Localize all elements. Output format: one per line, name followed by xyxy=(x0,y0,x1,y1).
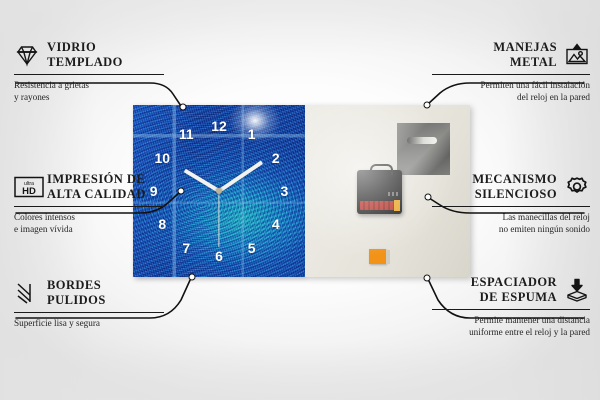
feature-desc-line2: no emiten ningún sonido xyxy=(432,223,590,235)
mechanism-label xyxy=(388,192,398,196)
feature-mecanismo-silencioso: MECANISMO SILENCIOSO Las manecillas del … xyxy=(432,172,590,236)
feature-title-line1: IMPRESIÓN DE xyxy=(47,172,146,187)
feature-title-line1: BORDES xyxy=(47,278,106,293)
feature-title-line2: ALTA CALIDAD xyxy=(47,187,146,202)
polished-edges-icon xyxy=(14,281,40,305)
clock-mechanism xyxy=(357,170,402,214)
clock-numeral-11: 11 xyxy=(179,127,194,141)
gear-icon xyxy=(564,175,590,199)
feature-rule xyxy=(14,74,164,76)
svg-text:HD: HD xyxy=(22,186,36,197)
feature-desc-line1: Permite mantener una distancia xyxy=(432,314,590,326)
feature-title-line2: SILENCIOSO xyxy=(472,187,557,202)
feature-rule xyxy=(14,312,164,314)
feature-bordes-pulidos: BORDES PULIDOS Superficie lisa y segura xyxy=(14,278,164,329)
feature-desc-line2: uniforme entre el reloj y la pared xyxy=(432,326,590,338)
feature-title-line2: PULIDOS xyxy=(47,293,106,308)
feature-title-line2: METAL xyxy=(493,55,557,70)
foam-spacer-arrow-icon xyxy=(564,278,590,302)
feature-desc-line2: y rayones xyxy=(14,91,164,103)
feature-impresion-alta-calidad: ultra HD IMPRESIÓN DE ALTA CALIDAD Color… xyxy=(14,172,164,236)
feature-desc-line1: Resistencia a grietas xyxy=(14,79,164,91)
mechanism-hanging-loop xyxy=(370,164,393,175)
clock-numeral-10: 10 xyxy=(154,151,170,165)
wall-hanging-frame-icon xyxy=(564,43,590,67)
feature-title-line2: DE ESPUMA xyxy=(471,290,557,305)
feature-title-line1: VIDRIO xyxy=(47,40,123,55)
feature-desc-line1: Colores intensos xyxy=(14,211,164,223)
clock-numeral-3: 3 xyxy=(280,184,288,198)
foam-spacer xyxy=(369,249,386,264)
clock-numeral-4: 4 xyxy=(272,217,280,231)
clock-numeral-1: 1 xyxy=(248,127,256,141)
connector-dot-bordes-pulidos xyxy=(189,274,196,281)
feature-manejas-metal: MANEJAS METAL Permiten una fácil instala… xyxy=(432,40,590,104)
clock-numeral-7: 7 xyxy=(182,241,190,255)
connector-dot-impresion xyxy=(178,188,185,195)
clock-numeral-5: 5 xyxy=(248,241,256,255)
ultra-hd-icon: ultra HD xyxy=(14,175,40,199)
connector-dot-espaciador xyxy=(424,275,431,282)
connector-dot-mecanismo xyxy=(425,194,432,201)
connector-dot-manejas-metal xyxy=(424,102,431,109)
feature-rule xyxy=(432,309,590,311)
feature-desc-line2: e imagen vívida xyxy=(14,223,164,235)
infographic-canvas: 12 1 2 3 4 5 6 7 8 9 10 11 xyxy=(0,0,600,400)
feature-rule xyxy=(432,74,590,76)
feature-desc-line2: del reloj en la pared xyxy=(432,91,590,103)
feature-rule xyxy=(14,206,164,208)
metal-hanger-plate xyxy=(397,123,450,175)
feature-desc-line1: Superficie lisa y segura xyxy=(14,317,164,329)
feature-rule xyxy=(432,206,590,208)
feature-title-line1: MANEJAS xyxy=(493,40,557,55)
battery xyxy=(360,201,396,210)
feature-title-line2: TEMPLADO xyxy=(47,55,123,70)
feature-espaciador-de-espuma: ESPACIADOR DE ESPUMA Permite mantener un… xyxy=(432,275,590,339)
feature-title-line1: MECANISMO xyxy=(472,172,557,187)
clock-numeral-6: 6 xyxy=(215,249,223,263)
diamond-icon xyxy=(14,43,40,67)
clock-numeral-12: 12 xyxy=(211,119,227,133)
feature-desc-line1: Las manecillas del reloj xyxy=(432,211,590,223)
clock-numeral-2: 2 xyxy=(272,151,280,165)
clock-center-pivot xyxy=(216,188,222,194)
feature-vidrio-templado: VIDRIO TEMPLADO Resistencia a grietas y … xyxy=(14,40,164,104)
connector-dot-vidrio-templado xyxy=(180,104,187,111)
feature-desc-line1: Permiten una fácil instalación xyxy=(432,79,590,91)
feature-title-line1: ESPACIADOR xyxy=(471,275,557,290)
